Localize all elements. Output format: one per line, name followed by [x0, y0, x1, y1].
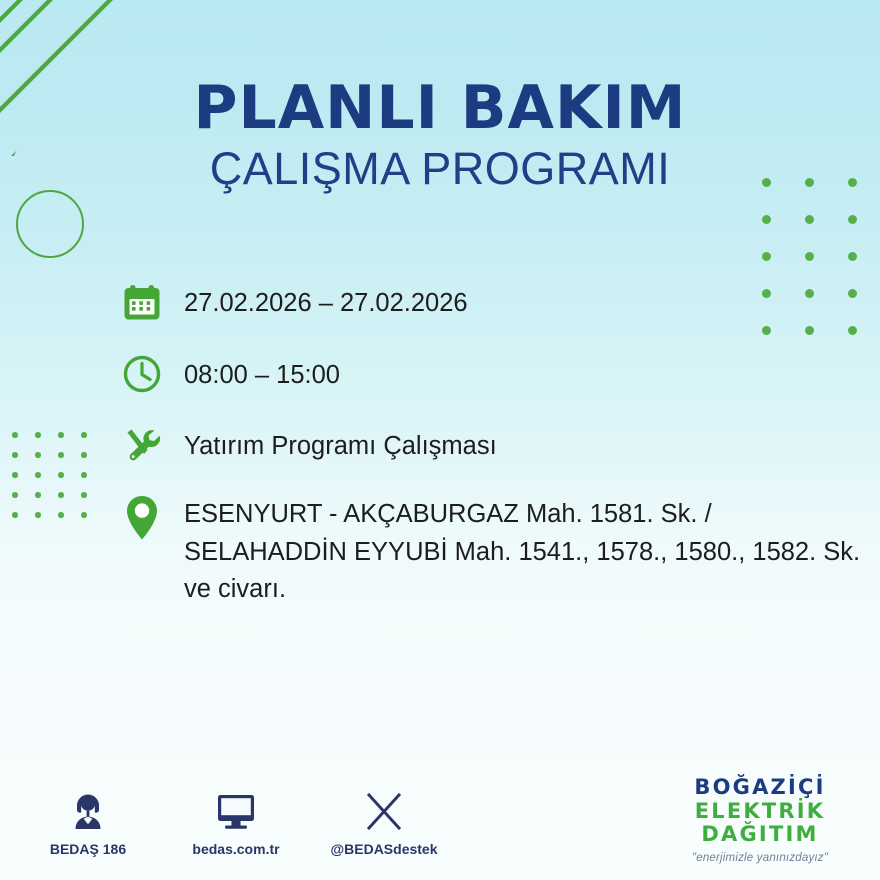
dot-grid-left-decoration [12, 432, 104, 532]
brand-line-elektrik: ELEKTRİK [668, 800, 852, 824]
time-range-text: 08:00 – 15:00 [168, 348, 340, 395]
tools-icon [116, 420, 168, 472]
detail-row-address: ESENYURT - AKÇABURGAZ Mah. 1581. Sk. / S… [116, 492, 876, 609]
monitor-icon [214, 786, 258, 832]
poster-header: PLANLI BAKIM ÇALIŞMA PROGRAMI [0, 78, 880, 195]
brand-line-dagitim: DAĞITIM [668, 823, 852, 847]
contact-website[interactable]: bedas.com.tr [184, 786, 288, 857]
contact-x-account[interactable]: @BEDASdestek [332, 786, 436, 857]
planned-maintenance-poster: PLANLI BAKIM ÇALIŞMA PROGRAMI [0, 0, 880, 880]
detail-row-date: 27.02.2026 – 27.02.2026 [116, 276, 876, 328]
maintenance-details: 27.02.2026 – 27.02.2026 08:00 – 15:00 [116, 276, 876, 609]
page-subtitle: ÇALIŞMA PROGRAMI [0, 143, 880, 195]
page-title: PLANLI BAKIM [0, 78, 880, 139]
detail-row-work-type: Yatırım Programı Çalışması [116, 420, 876, 472]
contact-call-center-label: BEDAŞ 186 [50, 841, 126, 857]
detail-row-time: 08:00 – 15:00 [116, 348, 876, 400]
brand-tagline: "enerjimizle yanınızdayız" [668, 852, 852, 864]
bedas-logo: BOĞAZİÇİ ELEKTRİK DAĞITIM "enerjimizle y… [668, 776, 852, 864]
circle-outline-decoration [16, 190, 84, 258]
location-pin-icon [116, 492, 168, 544]
clock-icon [116, 348, 168, 400]
footer-contacts: BEDAŞ 186 bedas.com.tr [36, 786, 436, 857]
support-agent-icon [66, 786, 110, 832]
work-type-text: Yatırım Programı Çalışması [168, 420, 497, 466]
x-twitter-icon [363, 786, 405, 832]
contact-call-center[interactable]: BEDAŞ 186 [36, 786, 140, 857]
address-text: ESENYURT - AKÇABURGAZ Mah. 1581. Sk. / S… [168, 492, 876, 609]
contact-x-label: @BEDASdestek [330, 841, 437, 857]
contact-website-label: bedas.com.tr [192, 841, 279, 857]
brand-line-bogazici: BOĞAZİÇİ [668, 776, 852, 800]
calendar-icon [116, 276, 168, 328]
date-range-text: 27.02.2026 – 27.02.2026 [168, 276, 468, 323]
